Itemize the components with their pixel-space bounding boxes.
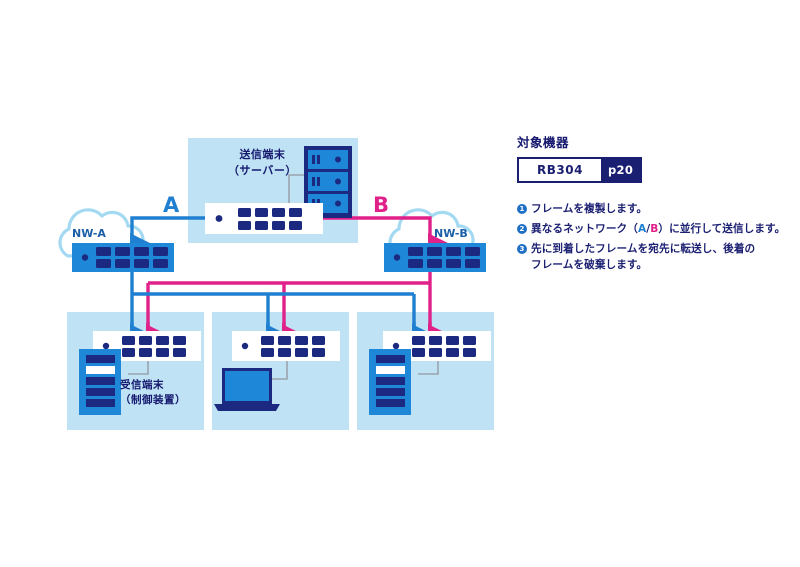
step-number: 2: [517, 224, 527, 234]
switch-nw-a: [72, 243, 174, 272]
step-text-continued: フレームを破棄します。: [531, 257, 787, 273]
sender-label: 送信端末 （サーバー）: [228, 147, 297, 179]
network-diagram: [0, 0, 800, 567]
path-b-label: B: [373, 193, 389, 217]
switch-nw-b: [384, 243, 486, 272]
step-item: 1 フレームを複製します。: [517, 201, 787, 217]
sender-label-main: 送信端末: [239, 148, 285, 161]
step-item: 3 先に到着したフレームを宛先に転送し、後着の フレームを破棄します。: [517, 241, 787, 273]
sender-label-sub: （サーバー）: [228, 164, 297, 177]
device-badge: RB304 p20: [517, 157, 642, 183]
receiver-label-sub: （制御装置）: [120, 394, 186, 406]
receiver-label: 受信端末 （制御装置）: [120, 378, 186, 408]
switch-sender: [205, 203, 323, 234]
device-model: RB304: [519, 159, 601, 181]
step-number: 3: [517, 244, 527, 254]
path-a-label: A: [163, 193, 179, 217]
step-number: 1: [517, 204, 527, 214]
step-item: 2 異なるネットワーク（A/B）に並行して送信します。: [517, 221, 787, 237]
control-device-right: [369, 349, 411, 415]
cloud-b-label: NW-B: [434, 227, 468, 240]
receiver-label-main: 受信端末: [120, 379, 164, 391]
cloud-a-label: NW-A: [72, 227, 106, 240]
sidebar-title: 対象機器: [517, 132, 787, 151]
step-text-post: ）に並行して送信します。: [658, 223, 785, 235]
step-text: フレームを複製します。: [531, 203, 647, 215]
step-network-a: A: [638, 223, 646, 235]
laptop-middle: [214, 368, 280, 411]
device-port: p20: [601, 159, 640, 181]
step-text: 先に到着したフレームを宛先に転送し、後着の: [531, 243, 755, 255]
diagram-stage: 送信端末 （サーバー） 受信端末 （制御装置） A B NW-A NW-B 対象…: [0, 0, 800, 567]
step-text-pre: 異なるネットワーク（: [531, 223, 638, 235]
steps-list: 1 フレームを複製します。 2 異なるネットワーク（A/B）に並行して送信します…: [517, 201, 787, 273]
sidebar: 対象機器 RB304 p20 1 フレームを複製します。 2 異なるネットワーク…: [517, 132, 787, 277]
control-device-left: [79, 349, 121, 415]
